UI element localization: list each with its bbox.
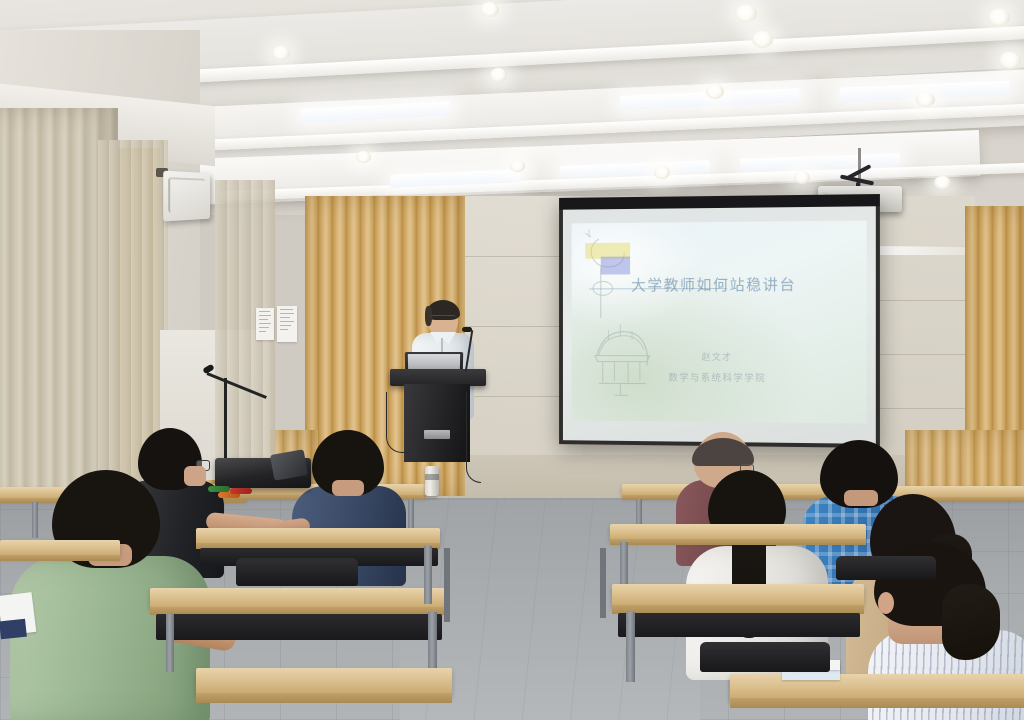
wall-speaker: [163, 171, 210, 222]
desk-edge: [730, 698, 1024, 708]
desk-modesty-panel: [156, 614, 442, 640]
lecture-podium: [404, 384, 470, 462]
desk-row-bottom-right: [730, 674, 1024, 700]
podium-cable: [466, 392, 481, 483]
desk-modesty-panel: [618, 613, 860, 637]
red-marker: [230, 488, 252, 494]
wall-notice-right: [277, 306, 297, 342]
desk-leg: [626, 612, 635, 682]
projected-slide: 大学教师如何站稳讲台 赵文才 数学与系统科学学院: [572, 221, 867, 424]
desk-edge: [0, 555, 120, 561]
desk-edge: [610, 539, 866, 545]
soda-can-label: [425, 474, 439, 480]
ceiling-downlight: [356, 151, 371, 163]
slide-accent-blue: [601, 257, 630, 275]
projection-screen[interactable]: 大学教师如何站稳讲台 赵文才 数学与系统科学学院: [559, 194, 880, 448]
ceiling-downlight: [752, 31, 773, 48]
chair-back: [700, 642, 830, 672]
desk-leg: [166, 614, 174, 672]
desk-row-mid-left: [196, 528, 440, 544]
desk-rail: [444, 548, 450, 622]
ceiling-downlight: [934, 176, 951, 189]
desk-row-front-left: [150, 588, 446, 608]
presenter-glasses-icon: [430, 315, 456, 322]
desk-row-front-right: [612, 584, 864, 606]
chair-back: [836, 556, 936, 580]
ceiling-downlight: [272, 46, 290, 60]
ceiling-downlight: [510, 160, 525, 172]
audience-stripe-top-ear: [878, 592, 894, 614]
desk-leg: [424, 546, 432, 604]
ceiling-downlight: [706, 84, 724, 99]
ceiling-downlight: [999, 52, 1021, 69]
slide-author: 赵文才: [572, 350, 867, 364]
desk-row-mid-right: [610, 524, 866, 540]
wall-highlight-strip: [880, 246, 976, 255]
chair-back: [236, 558, 358, 586]
slide-title: 大学教师如何站稳讲台: [572, 273, 859, 295]
lecture-hall-photo: 大学教师如何站稳讲台 赵文才 数学与系统科学学院: [0, 0, 1024, 720]
desk-edge: [196, 693, 452, 703]
desk-rail: [600, 548, 606, 618]
podium-name-plate: [424, 430, 450, 439]
ceiling-downlight: [654, 166, 670, 179]
desk-folder: [0, 619, 27, 640]
ceiling-downlight: [916, 92, 935, 107]
ceiling-downlight: [735, 5, 757, 22]
audience-navy-shirt-neck: [332, 480, 364, 496]
desk-row-bottom-left: [196, 668, 452, 694]
screen-surface: 大学教师如何站稳讲台 赵文才 数学与系统科学学院: [563, 206, 876, 444]
ceiling-downlight: [988, 9, 1010, 26]
ceiling-downlight: [794, 171, 810, 184]
desk-row-front-far-left: [0, 540, 120, 556]
audience-stripe-top-ponytail: [942, 584, 1000, 660]
slide-organization: 数学与系统科学学院: [572, 369, 867, 385]
wall-notice-left: [256, 308, 274, 340]
ceiling-downlight: [480, 2, 499, 17]
ceiling-downlight: [490, 68, 507, 82]
soda-can: [425, 466, 439, 496]
